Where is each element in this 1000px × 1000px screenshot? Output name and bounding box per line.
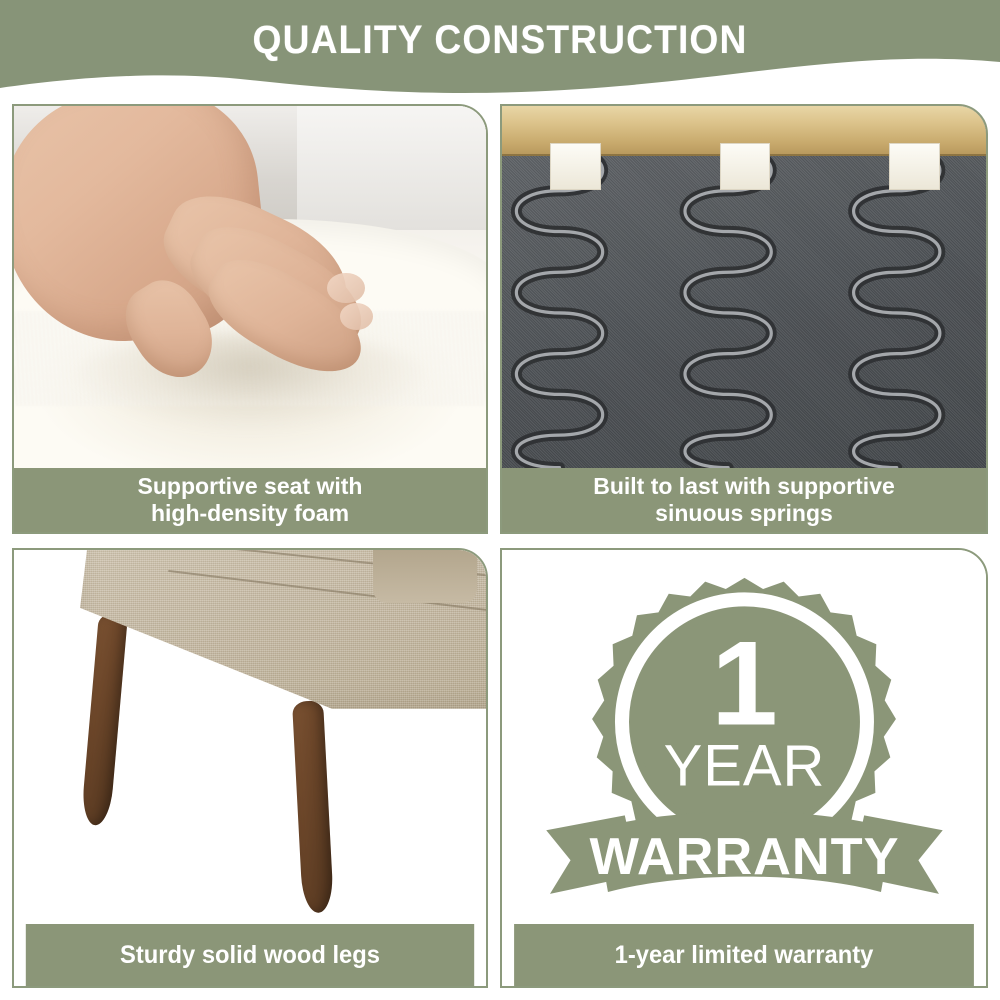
caption-line-1: 1-year limited warranty <box>615 941 874 970</box>
panel-warranty-caption: 1-year limited warranty <box>514 924 974 986</box>
warranty-ribbon-text: WARRANTY <box>589 829 899 887</box>
legs-photo <box>14 550 486 928</box>
caption-line-1: Supportive seat with <box>138 473 363 500</box>
caption-line-1: Built to last with supportive <box>593 473 895 500</box>
arm-notch <box>373 550 477 603</box>
feature-grid: Supportive seat with high-density foam <box>12 104 988 988</box>
warranty-number: 1 <box>711 618 778 751</box>
sinuous-springs-graphic <box>502 146 986 472</box>
foam-photo <box>14 106 486 472</box>
header-banner: QUALITY CONSTRUCTION <box>0 0 1000 108</box>
infographic-page: QUALITY CONSTRUCTION <box>0 0 1000 1000</box>
panel-foam: Supportive seat with high-density foam <box>12 104 488 534</box>
fingernail-1 <box>327 273 364 303</box>
panel-foam-caption: Supportive seat with high-density foam <box>14 468 486 532</box>
warranty-seal-icon: 1 YEAR WARRANTY <box>517 561 972 916</box>
caption-line-2: high-density foam <box>138 500 363 527</box>
panel-legs: Sturdy solid wood legs <box>12 548 488 988</box>
panel-springs-caption: Built to last with supportive sinuous sp… <box>502 468 986 532</box>
springs-photo <box>502 106 986 472</box>
fingernail-2 <box>340 303 373 330</box>
warranty-period: YEAR <box>663 735 825 799</box>
spring-clip-3 <box>889 143 939 191</box>
panel-springs: Built to last with supportive sinuous sp… <box>500 104 988 534</box>
spring-clip-1 <box>550 143 600 191</box>
warranty-badge-area: 1 YEAR WARRANTY <box>502 550 986 928</box>
panel-warranty: 1 YEAR WARRANTY 1-year limited warranty <box>500 548 988 988</box>
caption-line-2: sinuous springs <box>593 500 895 527</box>
page-title: QUALITY CONSTRUCTION <box>35 18 965 62</box>
hand-graphic <box>14 106 410 421</box>
panel-legs-caption: Sturdy solid wood legs <box>26 924 474 986</box>
caption-line-1: Sturdy solid wood legs <box>120 941 380 970</box>
spring-clip-2 <box>720 143 770 191</box>
